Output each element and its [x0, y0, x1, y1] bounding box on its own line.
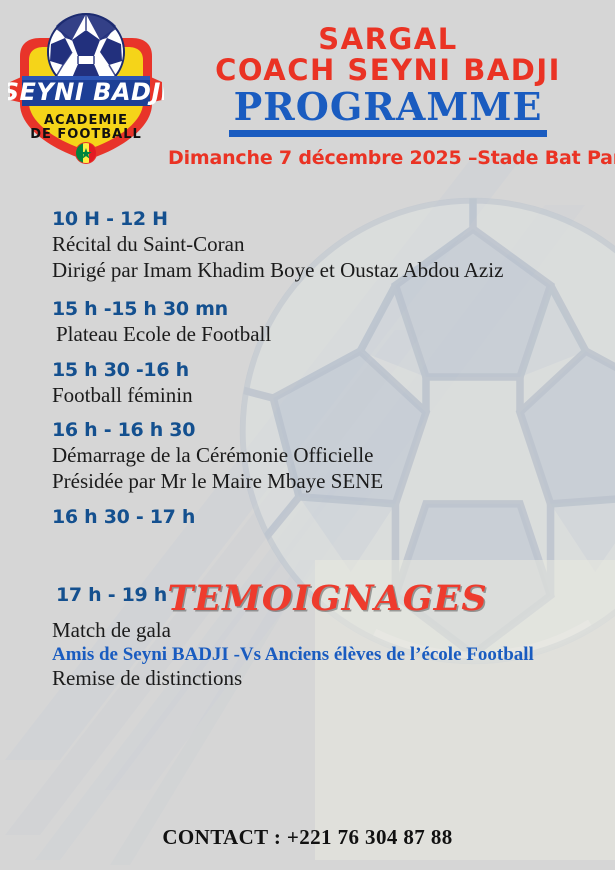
schedule-line: Démarrage de la Cérémonie Officielle [0, 443, 615, 469]
schedule-item: 15 h 30 -16 h Football féminin [0, 359, 615, 409]
schedule-line: Football féminin [0, 383, 615, 409]
schedule-item: 16 h 30 - 17 h [0, 506, 615, 528]
spacer [0, 495, 615, 506]
logo-subtitle-line2: DE FOOTBALL [30, 127, 142, 142]
schedule-line: Plateau Ecole de Football [0, 322, 615, 348]
schedule-line: Remise de distinctions [0, 666, 615, 692]
logo-banner-text: SEYNI BADJI [8, 78, 164, 106]
spacer [0, 283, 615, 298]
schedule-line: Récital du Saint-Coran [0, 232, 615, 258]
title-line-sargal: SARGAL [168, 24, 608, 54]
schedule-line: Match de gala [0, 618, 615, 644]
spacer [0, 348, 615, 359]
temoignages-heading: TEMOIGNAGES [0, 578, 615, 619]
logo-subtitle-line1: ACADEMIE [44, 113, 128, 128]
schedule-time: 15 h -15 h 30 mn [0, 298, 615, 320]
seyni-badji-academy-logo: SEYNI BADJI ACADEMIE DE FOOTBALL [8, 8, 164, 168]
schedule-line-highlight: Amis de Seyni BADJI -Vs Anciens élèves d… [0, 643, 615, 666]
contact-footer: CONTACT : +221 76 304 87 88 [0, 825, 615, 850]
schedule-item: 15 h -15 h 30 mn Plateau Ecole de Footba… [0, 298, 615, 348]
title-underline-bar [229, 130, 547, 137]
schedule-time: 16 h - 16 h 30 [0, 419, 615, 441]
schedule-line: Dirigé par Imam Khadim Boye et Oustaz Ab… [0, 258, 615, 284]
schedule-line: Présidée par Mr le Maire Mbaye SENE [0, 469, 615, 495]
schedule-time: 16 h 30 - 17 h [0, 506, 615, 528]
senegal-flag-roundel [75, 142, 97, 164]
program-schedule: 10 H - 12 H Récital du Saint-Coran Dirig… [0, 208, 615, 692]
schedule-time: 10 H - 12 H [0, 208, 615, 230]
schedule-item: 16 h - 16 h 30 Démarrage de la Cérémonie… [0, 419, 615, 494]
schedule-time: 15 h 30 -16 h [0, 359, 615, 381]
spacer-temoignages [0, 530, 615, 584]
spacer [0, 408, 615, 419]
poster-header: SARGAL COACH SEYNI BADJI PROGRAMME Diman… [168, 24, 608, 169]
title-programme: PROGRAMME [168, 87, 608, 127]
schedule-item: 10 H - 12 H Récital du Saint-Coran Dirig… [0, 208, 615, 283]
temoignages-label: TEMOIGNAGES [167, 578, 487, 619]
poster: SEYNI BADJI ACADEMIE DE FOOTBALL SARGAL … [0, 0, 615, 870]
title-line-coach: COACH SEYNI BADJI [168, 55, 608, 85]
event-date-venue: Dimanche 7 décembre 2025 –Stade Bat Para [168, 147, 608, 169]
